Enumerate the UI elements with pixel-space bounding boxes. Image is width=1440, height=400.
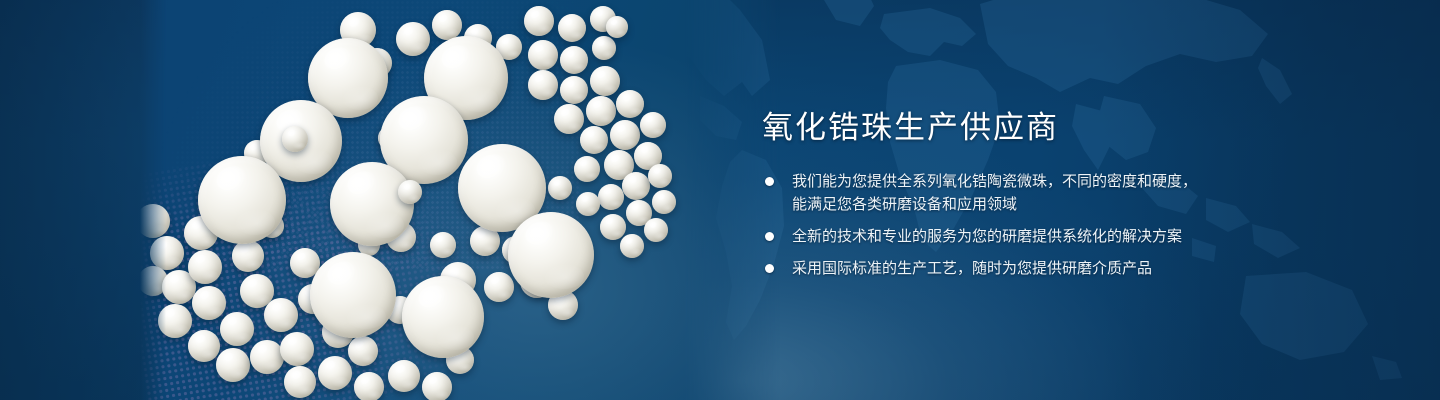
bullet-text-line2: 能满足您各类研磨设备和应用领域 xyxy=(792,193,1222,216)
bullet-dot-icon xyxy=(765,177,774,186)
bullet-text-line1: 我们能为您提供全系列氧化锆陶瓷微珠，不同的密度和硬度， xyxy=(792,173,1197,190)
bead-cluster xyxy=(140,0,780,400)
product-photo-zirconia-beads xyxy=(140,0,780,400)
list-item: 采用国际标准的生产工艺，随时为您提供研磨介质产品 xyxy=(762,257,1222,280)
list-item: 全新的技术和专业的服务为您的研磨提供系统化的解决方案 xyxy=(762,225,1222,248)
banner-content: 氧化锆珠生产供应商 我们能为您提供全系列氧化锆陶瓷微珠，不同的密度和硬度， 能满… xyxy=(762,0,1282,400)
list-item: 我们能为您提供全系列氧化锆陶瓷微珠，不同的密度和硬度， 能满足您各类研磨设备和应… xyxy=(762,170,1222,216)
banner-bullet-list: 我们能为您提供全系列氧化锆陶瓷微珠，不同的密度和硬度， 能满足您各类研磨设备和应… xyxy=(762,170,1222,289)
bullet-text-line1: 采用国际标准的生产工艺，随时为您提供研磨介质产品 xyxy=(792,260,1152,277)
bullet-dot-icon xyxy=(765,232,774,241)
banner-headline: 氧化锆珠生产供应商 xyxy=(762,108,1059,148)
bullet-text-line1: 全新的技术和专业的服务为您的研磨提供系统化的解决方案 xyxy=(792,228,1182,245)
bullet-dot-icon xyxy=(765,264,774,273)
hero-banner: 氧化锆珠生产供应商 我们能为您提供全系列氧化锆陶瓷微珠，不同的密度和硬度， 能满… xyxy=(0,0,1440,400)
